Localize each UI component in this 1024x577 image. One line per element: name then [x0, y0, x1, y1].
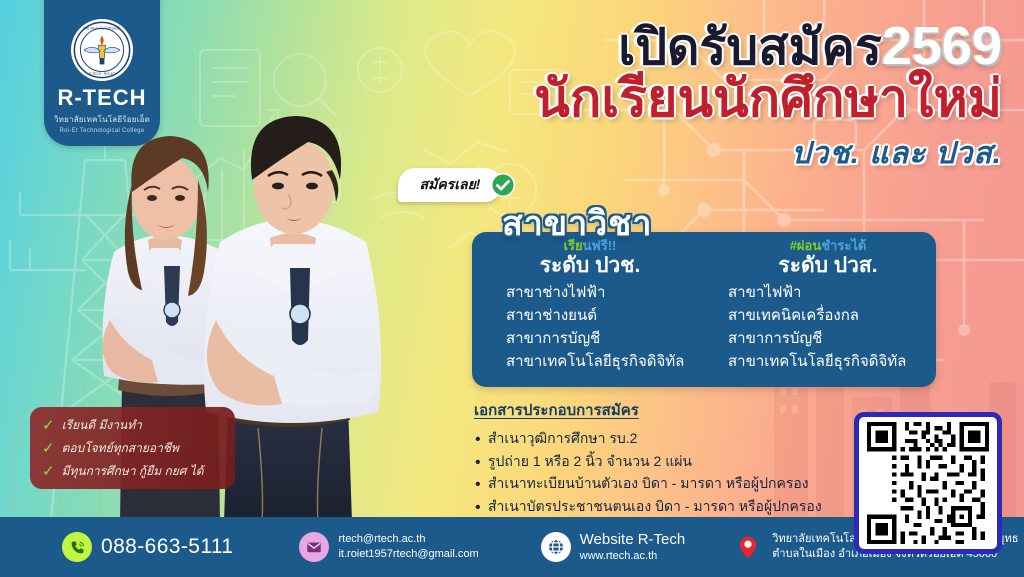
benefit-label: มีทุนการศึกษา กู้ยืม กยศ ได้: [62, 462, 204, 481]
benefit-label: เรียนดี มีงานทำ: [62, 416, 142, 435]
major-item: สาขาช่างไฟฟ้า: [506, 282, 714, 305]
major-item: สาขเทคนิคเครื่องกล: [728, 305, 936, 328]
apply-now-label: สมัครเลย!: [420, 174, 481, 196]
benefit-item: ✓ มีทุนการศึกษา กู้ยืม กยศ ได้: [42, 462, 225, 481]
contact-phone[interactable]: 088-663-5111: [62, 532, 233, 562]
benefit-label: ตอบโจทย์ทุกสายอาชีพ: [62, 439, 179, 458]
map-pin-icon: [733, 532, 763, 562]
major-item: สาขาเทคโนโลยีธุรกิจดิจิทัล: [728, 351, 936, 374]
benefit-item: ✓ เรียนดี มีงานทำ: [42, 416, 225, 435]
major-item: สาขาการบัญชี: [506, 328, 714, 351]
phone-number: 088-663-5111: [101, 535, 233, 559]
document-item: สำเนาทะเบียนบ้านตัวเอง บิดา - มารดา หรือ…: [488, 472, 894, 495]
qr-code-panel[interactable]: [854, 412, 1002, 554]
qr-code-icon: [864, 422, 992, 544]
level-label-pwos: ระดับ ปวส.: [728, 254, 928, 278]
benefit-item: ✓ ตอบโจทย์ทุกสายอาชีพ: [42, 439, 225, 458]
email-secondary: it.roiet1957rtech@gmail.com: [338, 547, 478, 562]
programs-section-title: สาขาวิชา: [502, 196, 652, 250]
globe-icon: [541, 532, 571, 562]
major-item: สาขาช่างยนต์: [506, 305, 714, 328]
headline-line-1: เปิดรับสมัคร2569: [402, 20, 1002, 73]
programs-panel: เรียนฟรี!! ระดับ ปวช. สาขาช่างไฟฟ้า สาขา…: [472, 232, 936, 387]
contact-email[interactable]: rtech@rtech.ac.th it.roiet1957rtech@gmai…: [299, 532, 478, 562]
level-label-pwch: ระดับ ปวช.: [506, 254, 674, 278]
check-circle-icon: [490, 172, 516, 198]
admission-poster: วิทยาลัยเทคโนโลยีร้อยเอ็ด R-TECH · ROI-E…: [0, 0, 1024, 577]
document-item: สำเนาบัตรประชาชนตนเอง บิดา - มารดา หรือผ…: [488, 495, 894, 518]
check-mark-icon: ✓: [42, 441, 55, 456]
programs-column-vocational: เรียนฟรี!! ระดับ ปวช. สาขาช่างไฟฟ้า สาขา…: [472, 232, 714, 387]
check-mark-icon: ✓: [42, 418, 55, 433]
tagline-installment: #ผ่อนชำระได้: [728, 238, 928, 254]
documents-list: สำเนาวุฒิการศึกษา รบ.2 รูปถ่าย 1 หรือ 2 …: [474, 427, 894, 518]
document-item: สำเนาวุฒิการศึกษา รบ.2: [488, 427, 894, 450]
major-item: สาขาการบัญชี: [728, 328, 936, 351]
programs-column-diploma: #ผ่อนชำระได้ ระดับ ปวส. สาขาไฟฟ้า สาขเทค…: [714, 232, 936, 387]
documents-section: เอกสารประกอบการสมัคร สำเนาวุฒิการศึกษา ร…: [474, 398, 894, 518]
website-url: www.rtech.ac.th: [580, 550, 686, 564]
check-mark-icon: ✓: [42, 464, 55, 479]
documents-heading: เอกสารประกอบการสมัคร: [474, 398, 894, 422]
major-item: สาขาไฟฟ้า: [728, 282, 936, 305]
headline-year: 2569: [882, 16, 1002, 76]
headline-block: เปิดรับสมัคร2569 นักเรียนนักศึกษาใหม่ ปว…: [402, 20, 1002, 177]
major-item: สาขาเทคโนโลยีธุรกิจดิจิทัล: [506, 351, 714, 374]
headline-open-admission: เปิดรับสมัคร: [618, 19, 882, 75]
phone-icon: [62, 532, 92, 562]
email-addresses: rtech@rtech.ac.th it.roiet1957rtech@gmai…: [338, 532, 478, 562]
website-label: Website R-Tech: [580, 531, 686, 550]
benefits-card: ✓ เรียนดี มีงานทำ ✓ ตอบโจทย์ทุกสายอาชีพ …: [30, 407, 235, 489]
website-text: Website R-Tech www.rtech.ac.th: [580, 531, 686, 564]
document-item: รูปถ่าย 1 หรือ 2 นิ้ว จำนวน 2 แผ่น: [488, 450, 894, 473]
apply-now-bubble[interactable]: สมัครเลย!: [398, 168, 502, 202]
envelope-icon: [299, 532, 329, 562]
email-primary: rtech@rtech.ac.th: [338, 532, 478, 547]
headline-line-2: นักเรียนนักศึกษาใหม่: [402, 73, 1002, 126]
contact-website[interactable]: Website R-Tech www.rtech.ac.th: [541, 531, 686, 564]
